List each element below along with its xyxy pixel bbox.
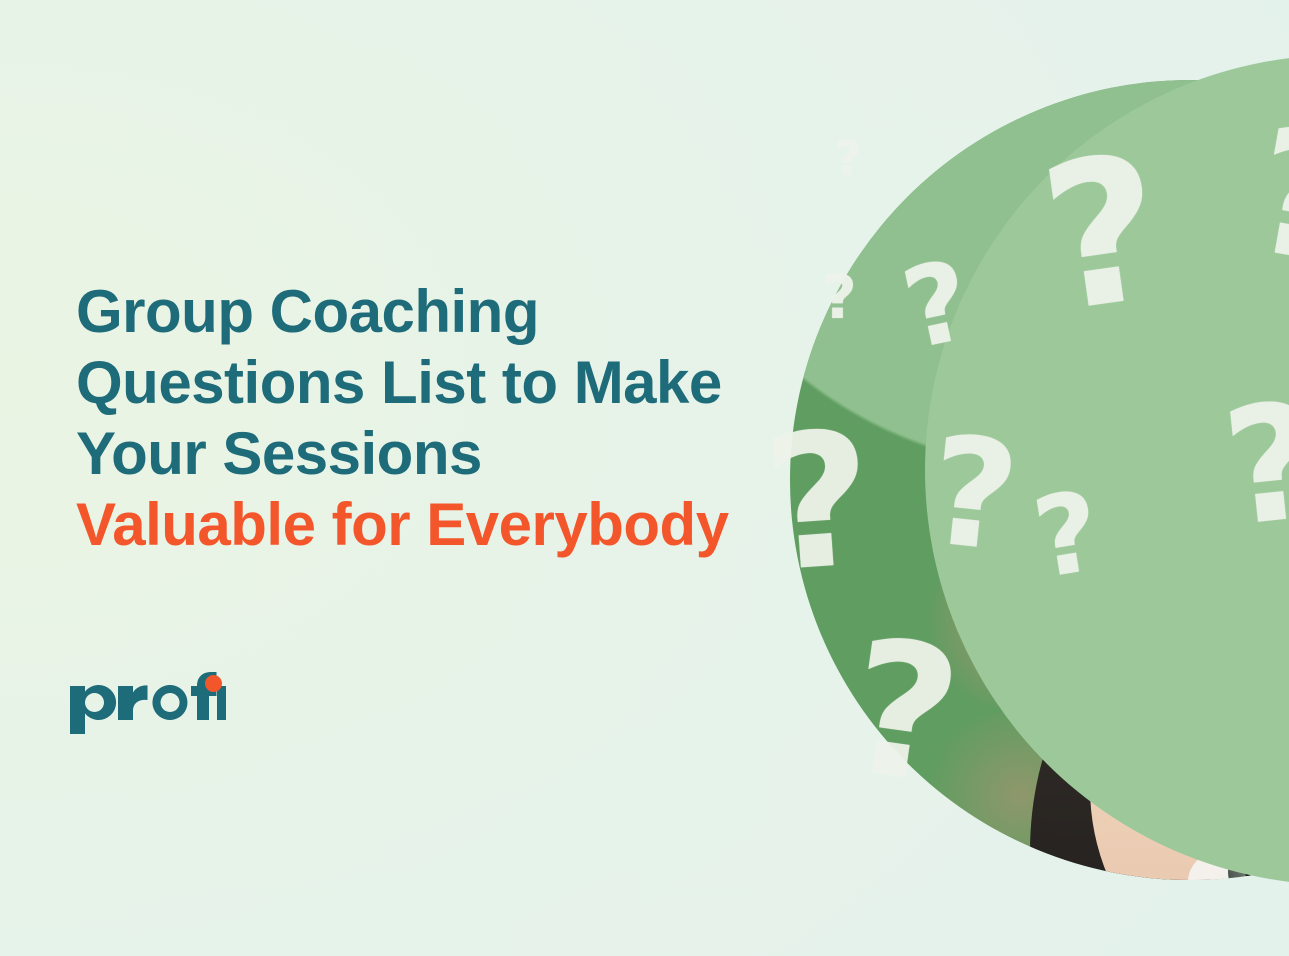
page-title: Group Coaching Questions List to Make Yo…: [76, 276, 776, 560]
profi-logo[interactable]: [66, 672, 226, 734]
headline-line-3: Your Sessions: [76, 418, 776, 489]
question-mark-5: ?: [759, 406, 879, 598]
headline-line-1: Group Coaching: [76, 276, 776, 347]
profi-logo-wordmark: [66, 672, 226, 734]
logo-accent-dot: [205, 675, 222, 692]
headline-line-4: Valuable for Everybody: [76, 489, 776, 560]
headline-line-2: Questions List to Make: [76, 347, 776, 418]
question-mark-10: ?: [822, 268, 857, 328]
question-mark-6: ?: [922, 416, 1024, 574]
cover-canvas: ?????????? Group Coaching Questions List…: [0, 0, 1289, 956]
question-mark-9: ?: [835, 135, 862, 181]
